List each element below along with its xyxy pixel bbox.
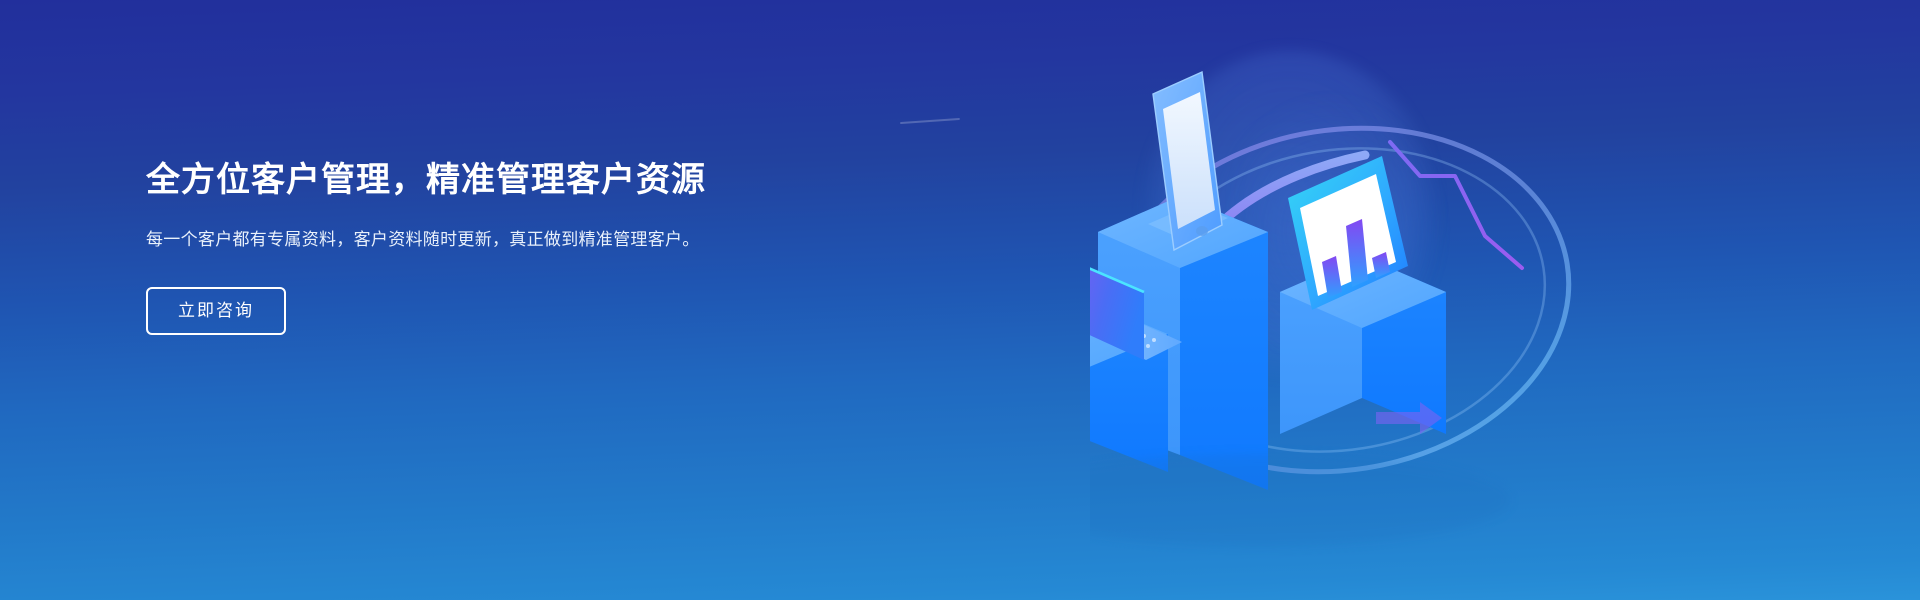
hero-illustration xyxy=(1090,0,1610,600)
hero-banner: 全方位客户管理，精准管理客户资源 每一个客户都有专属资料，客户资料随时更新，真正… xyxy=(0,0,1920,600)
hero-subtitle: 每一个客户都有专属资料，客户资料随时更新，真正做到精准管理客户。 xyxy=(146,227,726,253)
line-graph xyxy=(1390,142,1522,268)
hero-copy-block: 全方位客户管理，精准管理客户资源 每一个客户都有专属资料，客户资料随时更新，真正… xyxy=(146,160,786,335)
background-sheen-streak xyxy=(900,118,960,124)
ground-shadow xyxy=(1090,454,1510,546)
consult-now-button[interactable]: 立即咨询 xyxy=(146,287,286,335)
page-title: 全方位客户管理，精准管理客户资源 xyxy=(146,160,786,201)
